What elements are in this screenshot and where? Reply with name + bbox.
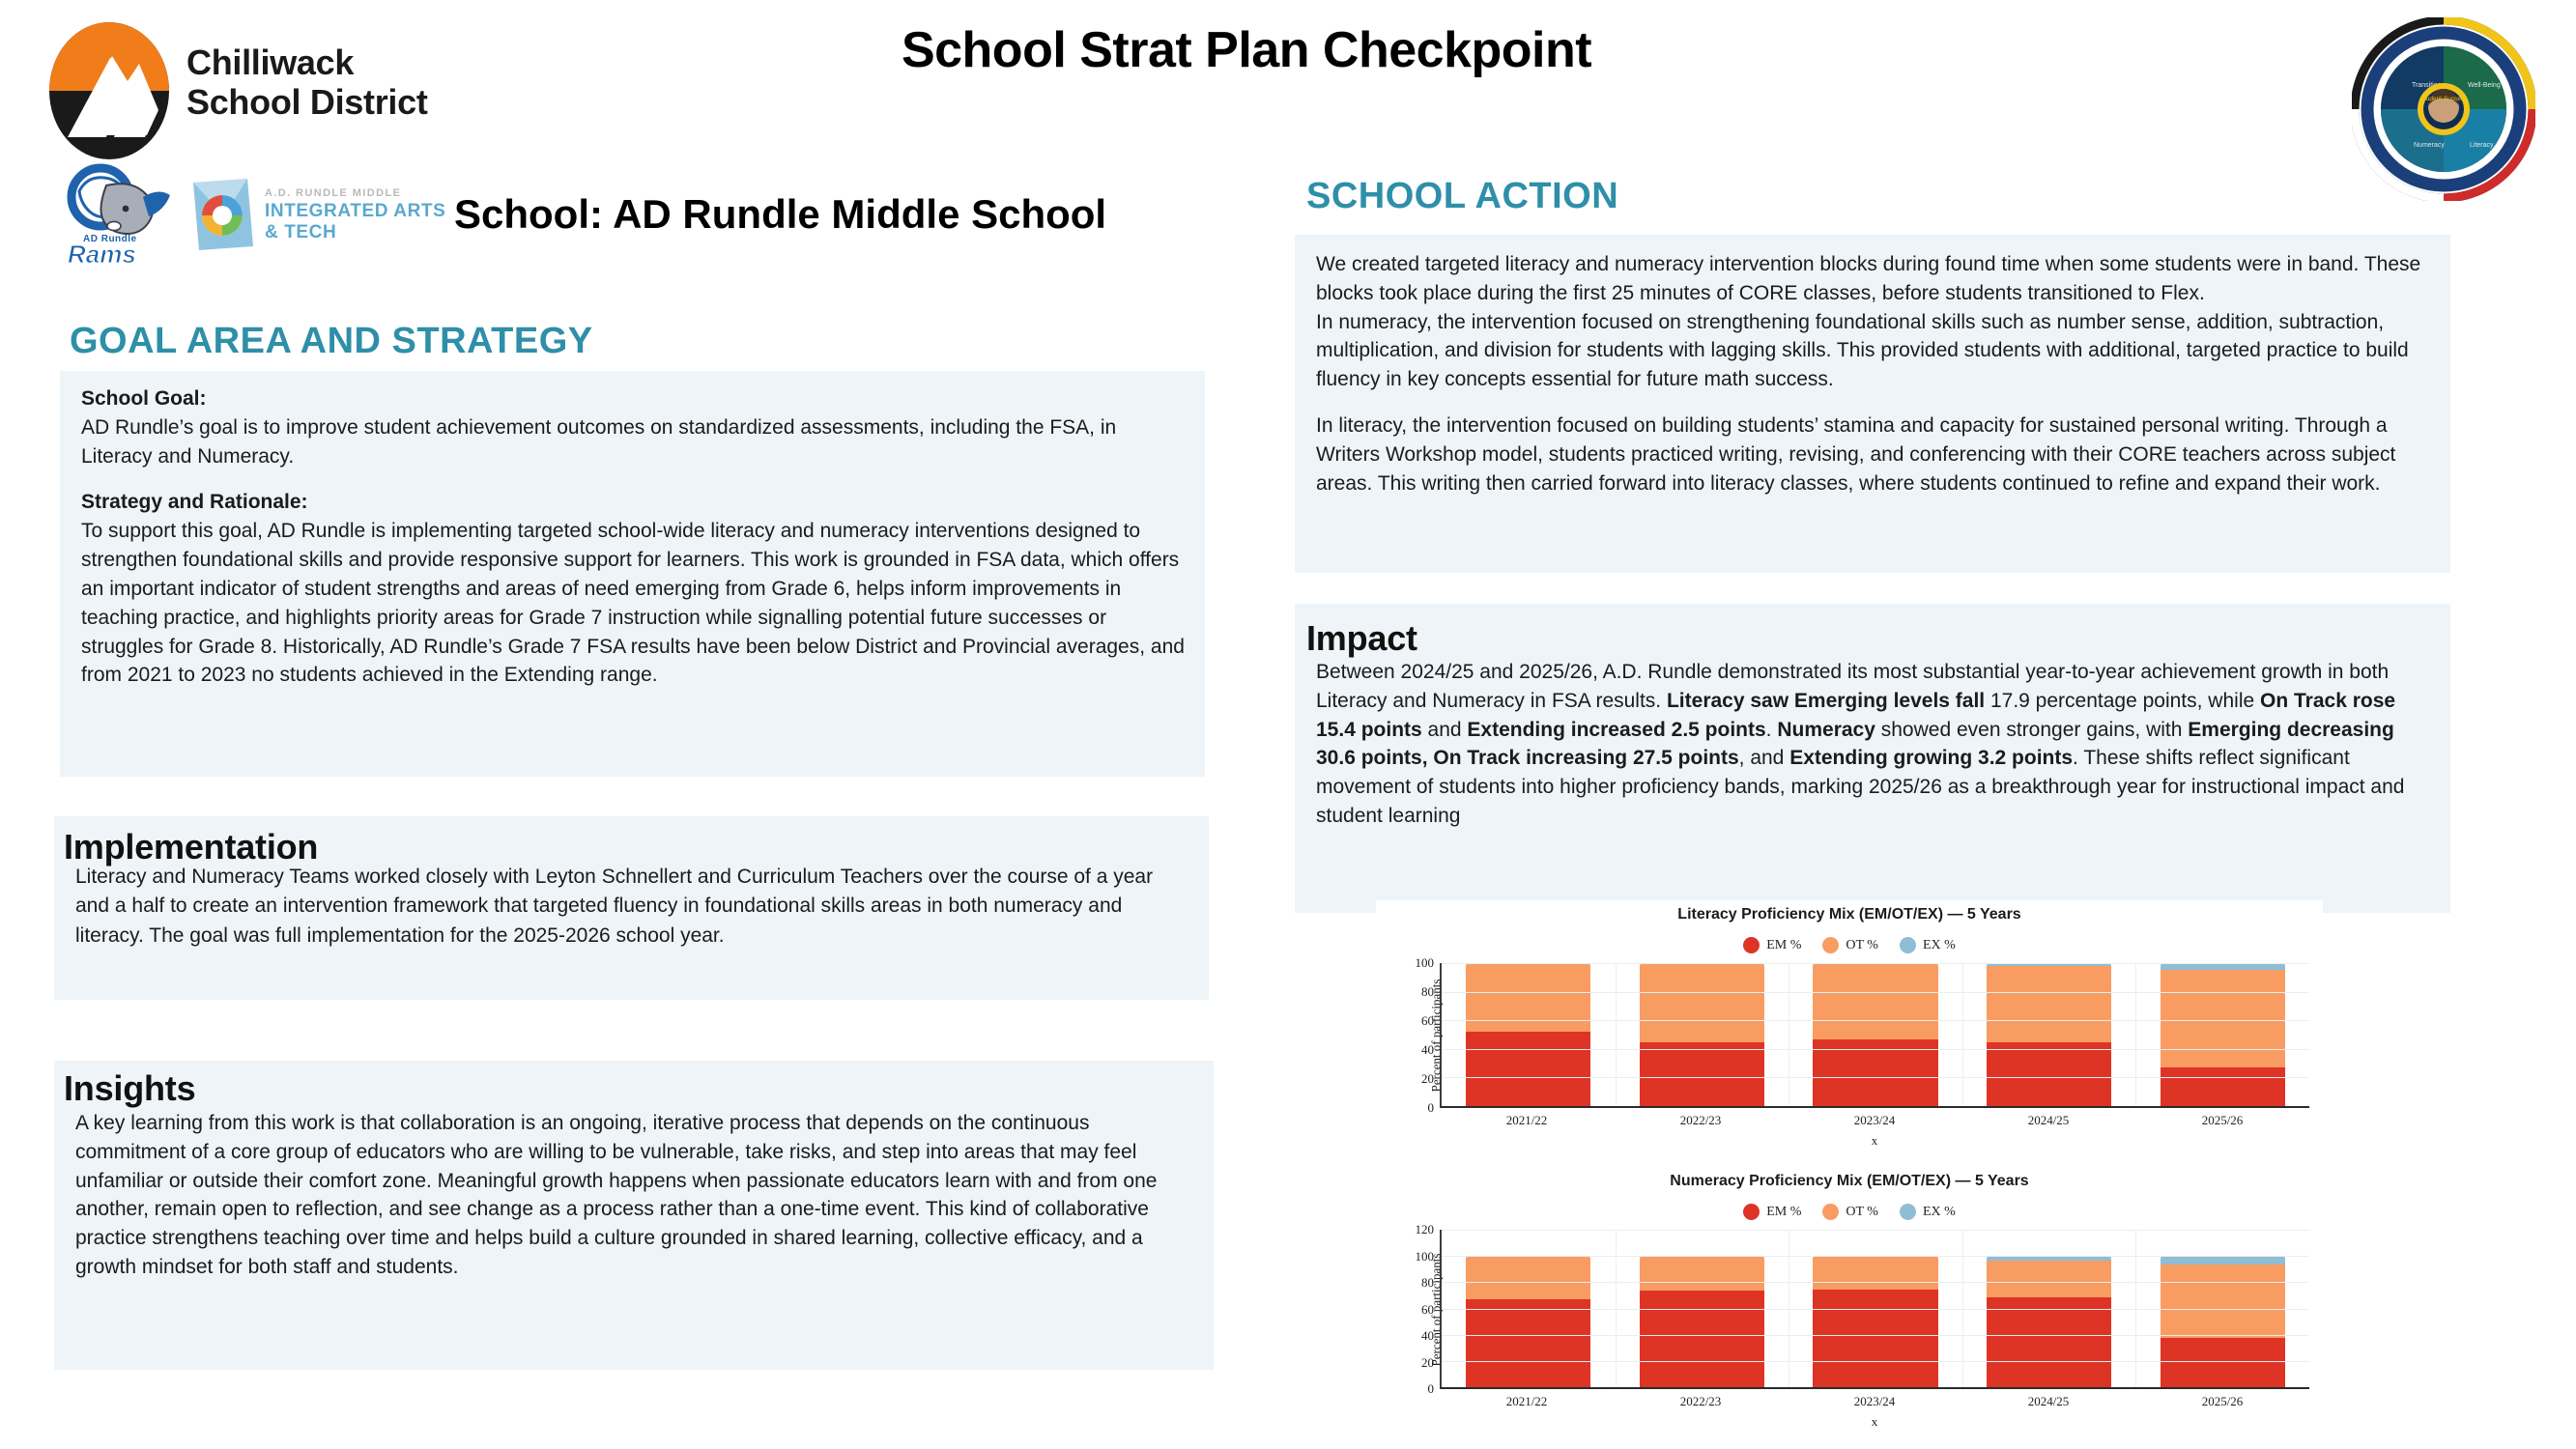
stacked-bar <box>1813 963 1937 1106</box>
bar-slot <box>2135 963 2309 1106</box>
insights-panel: A key learning from this work is that co… <box>54 1061 1214 1370</box>
literacy-proficiency-chart: Literacy Proficiency Mix (EM/OT/EX) — 5 … <box>1376 900 2323 1153</box>
y-tick-label: 80 <box>1421 1275 1434 1291</box>
school-action-para-1: We created targeted literacy and numerac… <box>1316 250 2429 308</box>
stacked-bar <box>1466 963 1590 1106</box>
numeracy-y-ticks: 020406080100120 <box>1397 1230 1438 1389</box>
gridline-horizontal <box>1442 1256 2309 1257</box>
iat-logo-text: A.D. RUNDLE MIDDLE INTEGRATED ARTS & TEC… <box>265 187 456 243</box>
literacy-chart-legend: EM %OT %EX % <box>1376 937 2323 953</box>
impact-body: Between 2024/25 and 2025/26, A.D. Rundle… <box>1316 658 2429 831</box>
legend-swatch-icon <box>1822 937 1839 953</box>
impact-bold-4: Numeracy <box>1777 719 1875 741</box>
bar-segment-ot <box>1640 963 1764 1042</box>
integrated-arts-tech-logo: A.D. RUNDLE MIDDLE INTEGRATED ARTS & TEC… <box>186 172 456 259</box>
y-tick-label: 40 <box>1421 1328 1434 1344</box>
legend-swatch-icon <box>1743 937 1760 953</box>
y-tick-label: 60 <box>1421 1302 1434 1318</box>
legend-label: EM % <box>1766 938 1801 953</box>
poster-page: Chilliwack School District AD Rundle Ram… <box>0 0 2576 1449</box>
gridline-vertical <box>1962 1230 1963 1387</box>
y-tick-label: 100 <box>1416 955 1435 971</box>
insights-body: A key learning from this work is that co… <box>75 1109 1192 1282</box>
x-tick-label: 2024/25 <box>1961 1113 2135 1128</box>
stacked-bar <box>1987 963 2111 1106</box>
bar-segment-ot <box>1987 1261 2111 1297</box>
impact-text-6: , and <box>1739 747 1790 769</box>
iat-school-name: A.D. RUNDLE MIDDLE <box>265 187 456 199</box>
gridline-vertical <box>1789 963 1789 1106</box>
legend-item-ex: EX % <box>1900 937 1956 953</box>
literacy-x-axis-label: x <box>1440 1133 2309 1149</box>
x-tick-label: 2022/23 <box>1614 1113 1788 1128</box>
impact-heading: Impact <box>1306 618 1417 659</box>
stacked-bar <box>1466 1256 1590 1387</box>
y-tick-label: 80 <box>1421 984 1434 1000</box>
bar-segment-ot <box>2161 970 2285 1068</box>
bar-segment-ex <box>2161 1256 2285 1264</box>
impact-bold-6: Extending growing 3.2 points <box>1789 747 2073 769</box>
school-goal-label: School Goal: <box>81 384 1186 413</box>
legend-label: EX % <box>1923 1205 1956 1220</box>
numeracy-chart-legend: EM %OT %EX % <box>1376 1204 2323 1220</box>
y-tick-label: 40 <box>1421 1042 1434 1058</box>
bar-segment-em <box>1813 1290 1937 1387</box>
x-tick-label: 2024/25 <box>1961 1394 2135 1409</box>
bar-segment-ot <box>1987 966 2111 1042</box>
bar-segment-ot <box>1640 1256 1764 1291</box>
legend-item-em: EM % <box>1743 937 1801 953</box>
x-tick-label: 2021/22 <box>1440 1113 1614 1128</box>
bar-segment-ot <box>1466 963 1590 1032</box>
numeracy-plot-area: Percent of participants 020406080100120 … <box>1376 1230 2323 1389</box>
numeracy-chart-title: Numeracy Proficiency Mix (EM/OT/EX) — 5 … <box>1376 1167 2323 1190</box>
implementation-body: Literacy and Numeracy Teams worked close… <box>75 863 1188 951</box>
stacked-bar <box>2161 963 2285 1106</box>
bar-slot <box>1442 963 1616 1106</box>
y-tick-label: 60 <box>1421 1013 1434 1029</box>
ad-rundle-rams-logo: AD Rundle Rams <box>50 162 205 269</box>
y-tick-label: 0 <box>1428 1381 1435 1397</box>
literacy-chart-title: Literacy Proficiency Mix (EM/OT/EX) — 5 … <box>1376 900 2323 923</box>
bar-segment-em <box>1987 1297 2111 1387</box>
y-tick-label: 20 <box>1421 1071 1434 1087</box>
legend-item-ex: EX % <box>1900 1204 1956 1220</box>
y-tick-label: 0 <box>1428 1100 1435 1116</box>
chilliwack-district-logo: Chilliwack School District <box>46 21 433 161</box>
legend-label: EM % <box>1766 1205 1801 1220</box>
impact-bold-1: Literacy saw Emerging levels fall <box>1667 690 1985 712</box>
gridline-vertical <box>1789 1230 1789 1387</box>
district-name-line1: Chilliwack <box>186 43 428 82</box>
stacked-bar <box>1813 1256 1937 1387</box>
svg-text:Literacy: Literacy <box>2470 142 2494 149</box>
iat-program-name: INTEGRATED ARTS & TECH <box>265 201 456 243</box>
stacked-bar <box>1640 963 1764 1106</box>
school-goal-body: AD Rundle’s goal is to improve student a… <box>81 413 1186 471</box>
gridline-horizontal <box>1442 1049 2309 1050</box>
iat-logo-mark <box>186 177 258 252</box>
svg-text:Well-Being: Well-Being <box>2468 82 2501 89</box>
gridline-vertical <box>1962 963 1963 1106</box>
bar-segment-em <box>1640 1042 1764 1106</box>
gridline-horizontal <box>1442 1309 2309 1310</box>
bar-segment-ot <box>2161 1264 2285 1337</box>
impact-text-4: . <box>1766 719 1778 741</box>
stacked-bar <box>2161 1256 2285 1387</box>
x-tick-label: 2025/26 <box>2135 1113 2309 1128</box>
literacy-y-ticks: 020406080100 <box>1397 963 1438 1108</box>
svg-text:Student Success: Student Success <box>2420 96 2469 102</box>
legend-label: EX % <box>1923 938 1956 953</box>
page-title: School Strat Plan Checkpoint <box>734 21 1759 79</box>
literacy-bars <box>1442 963 2309 1106</box>
legend-label: OT % <box>1846 938 1878 953</box>
impact-bold-3: Extending increased 2.5 points <box>1467 719 1765 741</box>
legend-swatch-icon <box>1743 1204 1760 1220</box>
bar-segment-em <box>1987 1042 2111 1106</box>
school-action-para-2: In numeracy, the intervention focused on… <box>1316 308 2429 394</box>
strategy-rationale-label: Strategy and Rationale: <box>81 488 1186 517</box>
gridline-horizontal <box>1442 1361 2309 1362</box>
gridline-horizontal <box>1442 1230 2309 1231</box>
y-tick-label: 100 <box>1416 1249 1435 1264</box>
numeracy-x-ticks: 2021/222022/232023/242024/252025/26 <box>1440 1394 2309 1409</box>
goal-area-heading: GOAL AREA AND STRATEGY <box>70 321 593 362</box>
strategy-rationale-body: To support this goal, AD Rundle is imple… <box>81 517 1186 690</box>
gridline-vertical <box>1616 1230 1617 1387</box>
bar-segment-em <box>1640 1291 1764 1387</box>
impact-panel: Between 2024/25 and 2025/26, A.D. Rundle… <box>1295 604 2450 913</box>
svg-text:Numeracy: Numeracy <box>2414 142 2445 149</box>
x-tick-label: 2023/24 <box>1788 1394 1961 1409</box>
gridline-horizontal <box>1442 1077 2309 1078</box>
bar-segment-em <box>1466 1032 1590 1106</box>
bar-segment-ot <box>1466 1256 1590 1298</box>
legend-item-ot: OT % <box>1822 1204 1878 1220</box>
impact-text-2: 17.9 percentage points, while <box>1985 690 2260 712</box>
numeracy-x-axis-label: x <box>1440 1414 2309 1430</box>
school-action-panel: We created targeted literacy and numerac… <box>1295 235 2450 573</box>
legend-item-em: EM % <box>1743 1204 1801 1220</box>
x-tick-label: 2022/23 <box>1614 1394 1788 1409</box>
x-tick-label: 2021/22 <box>1440 1394 1614 1409</box>
school-action-para-3: In literacy, the intervention focused on… <box>1316 412 2429 497</box>
y-tick-label: 120 <box>1416 1222 1435 1237</box>
legend-swatch-icon <box>1900 1204 1916 1220</box>
legend-item-ot: OT % <box>1822 937 1878 953</box>
x-tick-label: 2025/26 <box>2135 1394 2309 1409</box>
gridline-horizontal <box>1442 1282 2309 1283</box>
bar-slot <box>1789 963 1962 1106</box>
x-tick-label: 2023/24 <box>1788 1113 1961 1128</box>
numeracy-proficiency-chart: Numeracy Proficiency Mix (EM/OT/EX) — 5 … <box>1376 1167 2323 1442</box>
bar-segment-em <box>1466 1299 1590 1387</box>
gridline-vertical <box>2135 963 2136 1106</box>
district-logo-text: Chilliwack School District <box>186 43 428 123</box>
y-tick-label: 20 <box>1421 1355 1434 1371</box>
legend-swatch-icon <box>1900 937 1916 953</box>
implementation-heading: Implementation <box>64 827 318 867</box>
literacy-plot <box>1440 963 2309 1108</box>
stacked-bar <box>1640 1256 1764 1387</box>
legend-label: OT % <box>1846 1205 1878 1220</box>
bar-segment-em <box>2161 1067 2285 1106</box>
gridline-horizontal <box>1442 963 2309 964</box>
gridline-horizontal <box>1442 992 2309 993</box>
school-action-heading: SCHOOL ACTION <box>1306 176 1618 217</box>
numeracy-plot <box>1440 1230 2309 1389</box>
bar-segment-ot <box>1813 1256 1937 1290</box>
bar-slot <box>1962 963 2136 1106</box>
legend-swatch-icon <box>1822 1204 1839 1220</box>
gridline-horizontal <box>1442 1335 2309 1336</box>
stacked-bar <box>1987 1256 2111 1387</box>
district-name-line2: School District <box>186 82 428 122</box>
insights-heading: Insights <box>64 1068 195 1109</box>
bar-segment-em <box>2161 1338 2285 1387</box>
svg-text:Rams: Rams <box>68 240 136 269</box>
gridline-vertical <box>1616 963 1617 1106</box>
gridline-vertical <box>2135 1230 2136 1387</box>
gridline-horizontal <box>1442 1020 2309 1021</box>
literacy-plot-area: Percent of participants 020406080100 202… <box>1376 963 2323 1108</box>
literacy-x-ticks: 2021/222022/232023/242024/252025/26 <box>1440 1113 2309 1128</box>
bar-segment-ot <box>1813 963 1937 1039</box>
goal-area-panel: School Goal: AD Rundle’s goal is to impr… <box>60 371 1205 777</box>
strategic-plan-badge-icon: Transitions Well-Being Numeracy Literacy… <box>2352 17 2535 201</box>
impact-text-5: showed even stronger gains, with <box>1875 719 2188 741</box>
school-name-heading: School: AD Rundle Middle School <box>454 191 1106 238</box>
bar-slot <box>1616 963 1789 1106</box>
district-logo-mark <box>46 21 172 161</box>
impact-text-3: and <box>1422 719 1468 741</box>
